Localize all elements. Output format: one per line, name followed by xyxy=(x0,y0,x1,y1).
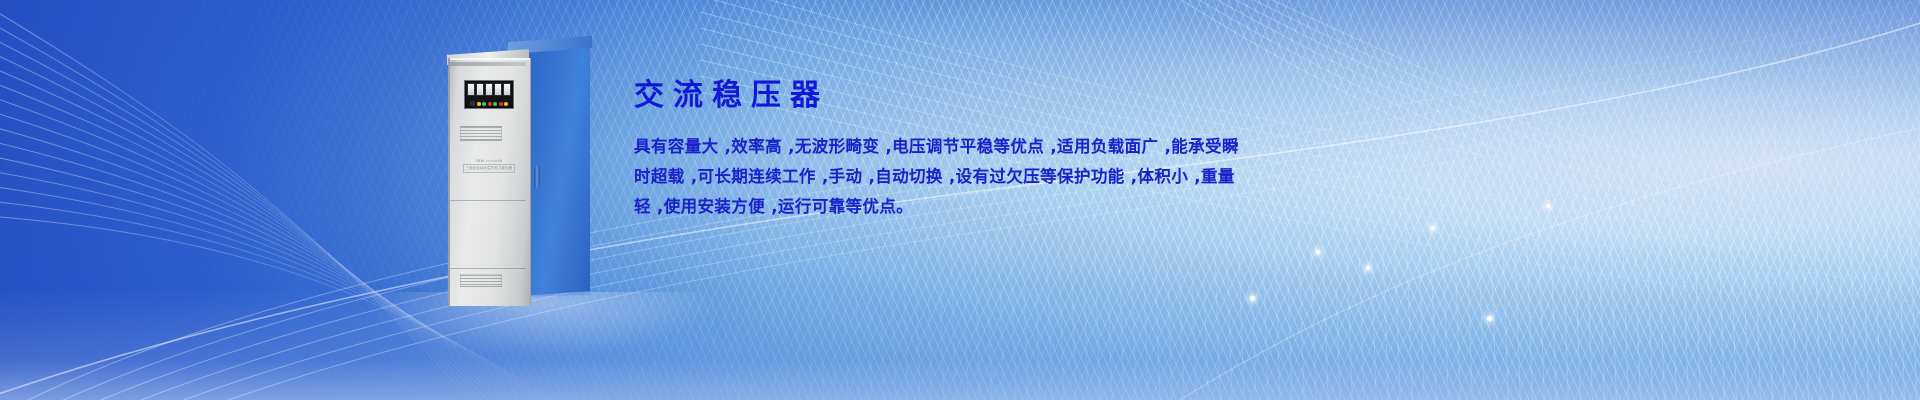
banner-copy: 交流稳压器 具有容量大 ,效率高 ,无波形畸变 ,电压调节平稳等优点 ,适用负载… xyxy=(634,78,1174,222)
lamp-red-icon xyxy=(499,102,503,106)
description-line: 时超载 ,可长期连续工作 ,手动 ,自动切换 ,设有过欠压等保护功能 ,体积小 … xyxy=(634,162,1158,192)
description-line: 轻 ,使用安装方便 ,运行可靠等优点。 xyxy=(634,192,1158,222)
panel-meter-1 xyxy=(467,83,475,96)
sparkle-dot xyxy=(1316,250,1320,254)
lamp-red-icon xyxy=(488,102,492,106)
cabinet-vent-upper xyxy=(460,126,502,141)
panel-meter-2 xyxy=(476,83,484,96)
sparkle-dot xyxy=(1366,266,1370,270)
lamp-amber-icon xyxy=(477,102,481,106)
lamp-green-icon xyxy=(482,102,486,106)
cabinet-vent-lower xyxy=(460,274,502,287)
cabinet-door-handle xyxy=(534,166,540,188)
sparkle-dot xyxy=(1546,204,1550,208)
lamp-amber-icon xyxy=(504,102,508,106)
product-image-stabilizer-cabinet: SBW-××××kVA 三相全自动补偿式电力稳压器 xyxy=(430,42,620,300)
lamp-green-icon xyxy=(493,102,497,106)
control-panel xyxy=(464,80,514,109)
panel-meter-4 xyxy=(494,83,502,96)
indicator-lamp-row xyxy=(467,101,511,106)
sparkle-dot xyxy=(1250,296,1255,301)
panel-switch-icon xyxy=(470,101,475,106)
page-title: 交流稳压器 xyxy=(634,78,1174,114)
product-banner: SBW-××××kVA 三相全自动补偿式电力稳压器 交流稳压器 具有容量大 ,效… xyxy=(0,0,1920,400)
cabinet-seam xyxy=(450,268,526,269)
cabinet-seam xyxy=(450,200,526,201)
description-line: 具有容量大 ,效率高 ,无波形畸变 ,电压调节平稳等优点 ,适用负载面广 ,能承… xyxy=(634,132,1158,162)
panel-meter-5 xyxy=(503,83,511,96)
cabinet-front-lip xyxy=(449,62,526,66)
meter-row xyxy=(467,83,511,96)
panel-meter-3 xyxy=(485,83,493,96)
cabinet-nameplate: SBW-××××kVA 三相全自动补偿式电力稳压器 xyxy=(460,158,518,173)
product-description: 具有容量大 ,效率高 ,无波形畸变 ,电压调节平稳等优点 ,适用负载面广 ,能承… xyxy=(634,132,1158,222)
sparkle-dot xyxy=(1431,226,1435,230)
nameplate-description: 三相全自动补偿式电力稳压器 xyxy=(463,164,516,172)
sparkle-dot xyxy=(1487,316,1492,321)
